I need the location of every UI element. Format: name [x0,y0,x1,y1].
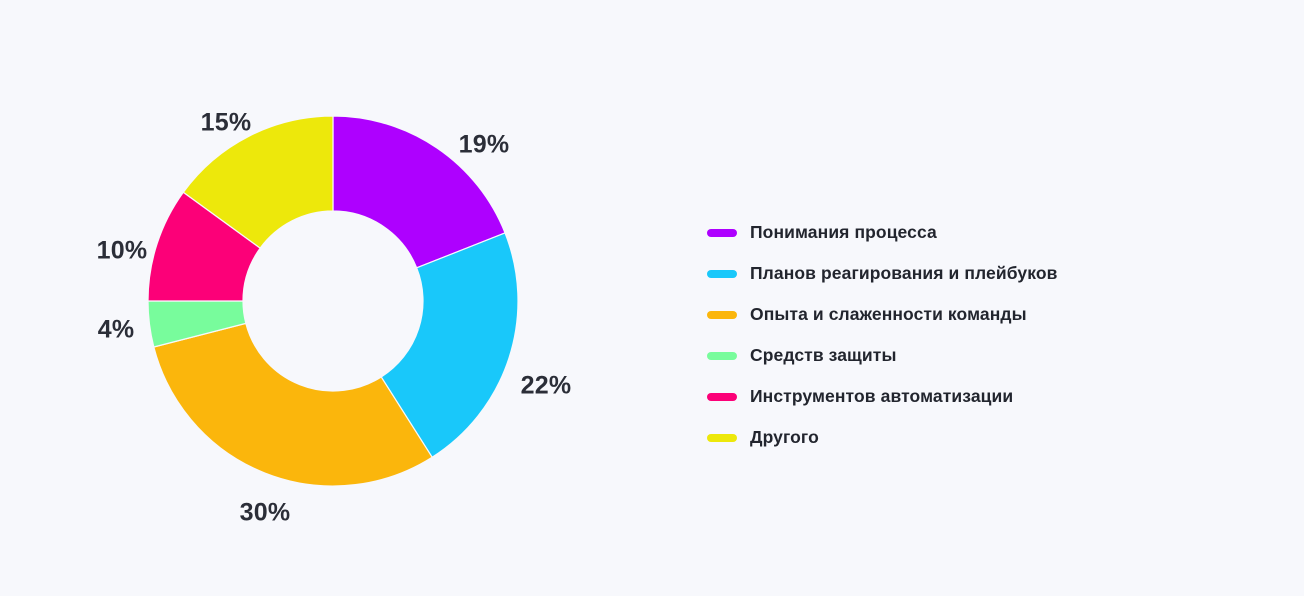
legend-item[interactable]: Понимания процесса [707,212,1227,253]
legend-color-swatch [707,229,737,237]
legend-color-swatch [707,352,737,360]
donut-chart-figure: 19%22%30%4%10%15% Понимания процессаПлан… [0,0,1304,596]
slice-percent-label: 30% [240,499,291,527]
donut-slices-group [148,116,518,486]
legend-item[interactable]: Инструментов автоматизации [707,376,1227,417]
slice-percent-label: 22% [521,372,572,400]
legend-item[interactable]: Средств защиты [707,335,1227,376]
legend-item-label: Планов реагирования и плейбуков [750,263,1058,284]
chart-legend: Понимания процессаПланов реагирования и … [707,212,1227,458]
legend-item-label: Понимания процесса [750,222,937,243]
legend-item[interactable]: Опыта и слаженности команды [707,294,1227,335]
legend-item-label: Другого [750,427,819,448]
slice-percent-label: 15% [201,109,252,137]
legend-item-label: Средств защиты [750,345,897,366]
slice-percent-label: 4% [98,316,135,344]
donut-slice[interactable] [154,323,432,486]
legend-item[interactable]: Другого [707,417,1227,458]
legend-color-swatch [707,393,737,401]
donut-chart-svg: 19%22%30%4%10%15% [0,0,666,596]
slice-percent-label: 10% [97,237,148,265]
slice-percent-label: 19% [459,131,510,159]
legend-item[interactable]: Планов реагирования и плейбуков [707,253,1227,294]
legend-color-swatch [707,270,737,278]
legend-item-label: Инструментов автоматизации [750,386,1013,407]
donut-chart-plot-area: 19%22%30%4%10%15% [0,0,666,596]
legend-color-swatch [707,434,737,442]
legend-item-label: Опыта и слаженности команды [750,304,1027,325]
legend-color-swatch [707,311,737,319]
